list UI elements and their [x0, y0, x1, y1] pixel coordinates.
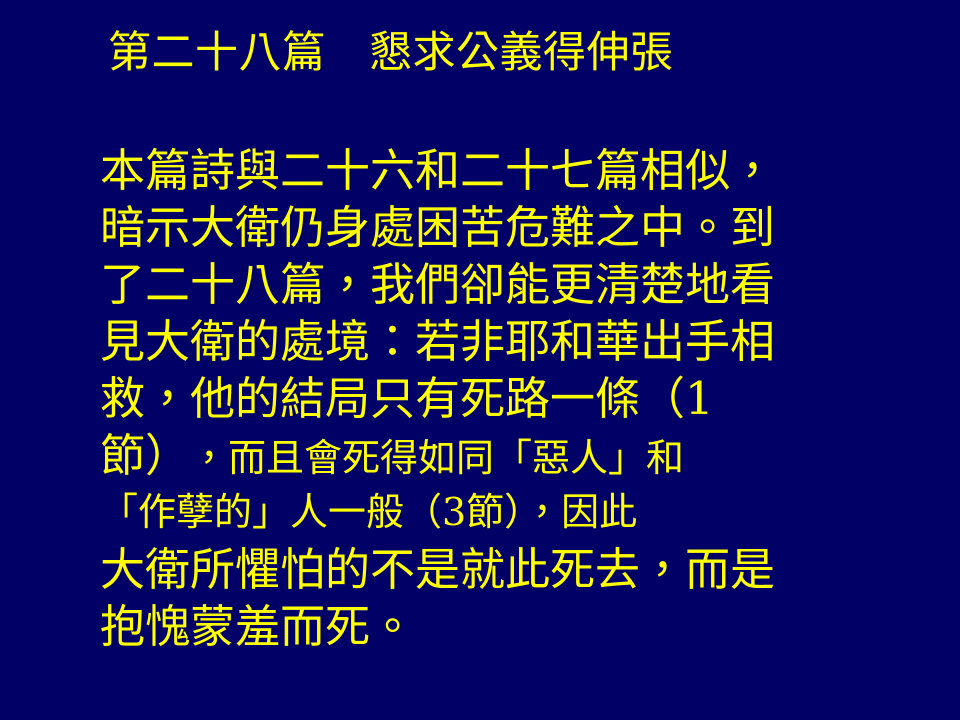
body-line: 暗示大衛仍身處困苦危難之中。到 [100, 199, 860, 256]
body-line: 「作孽的」人一般（3節），因此 [100, 484, 860, 541]
body-line: 節） ，而且會死得如同「惡人」和 [100, 427, 860, 484]
slide-body: 本篇詩與二十六和二十七篇相似， 暗示大衛仍身處困苦危難之中。到 了二十八篇，我們… [100, 142, 860, 655]
body-line: 救，他的結局只有死路一條（1 [100, 370, 860, 427]
slide-canvas: 第二十八篇 懇求公義得伸張 本篇詩與二十六和二十七篇相似， 暗示大衛仍身處困苦危… [0, 0, 960, 720]
body-line-segment-small: ，而且會死得如同「惡人」和 [190, 430, 684, 487]
slide-title-text: 第二十八篇 懇求公義得伸張 [108, 32, 674, 75]
body-line: 本篇詩與二十六和二十七篇相似， [100, 142, 860, 199]
body-line: 抱愧蒙羞而死。 [100, 598, 860, 655]
body-line: 見大衛的處境：若非耶和華出手相 [100, 313, 860, 370]
body-line: 了二十八篇，我們卻能更清楚地看 [100, 256, 860, 313]
slide-title: 第二十八篇 懇求公義得伸張 [108, 22, 908, 84]
body-line-segment-large: 節） [100, 427, 190, 484]
body-line: 大衛所懼怕的不是就此死去，而是 [100, 541, 860, 598]
